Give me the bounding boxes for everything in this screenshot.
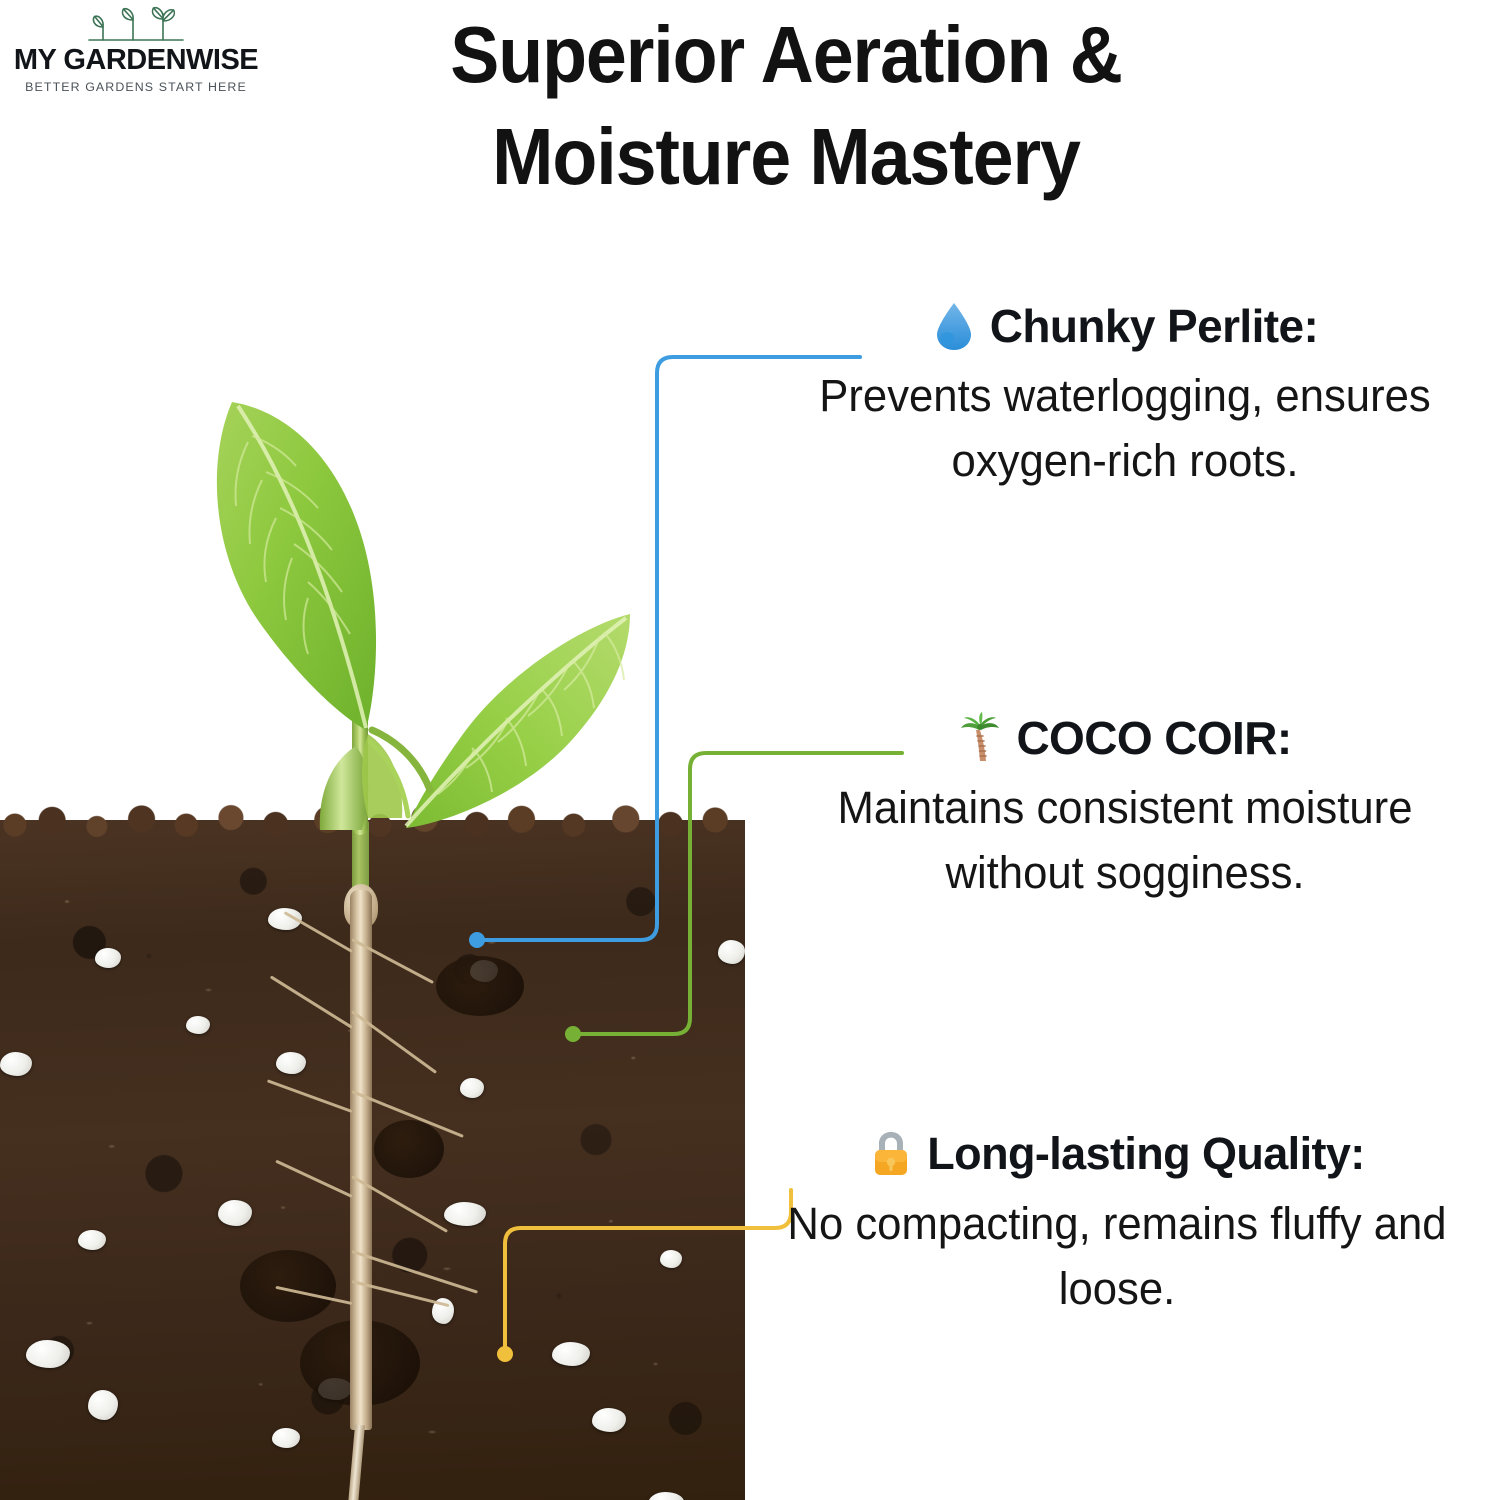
callout-perlite-title: Chunky Perlite: (990, 302, 1318, 350)
perlite-chunk (276, 1052, 306, 1074)
leaf-right (406, 614, 630, 828)
perlite-chunk (0, 1052, 32, 1076)
infographic-canvas: MY GARDENWISE BETTER GARDENS START HERE … (0, 0, 1497, 1500)
callout-coir: COCO COIR: Maintains consistent moisture… (760, 712, 1490, 906)
callout-coir-body: Maintains consistent moisture without so… (771, 776, 1479, 906)
water-droplet-icon (932, 300, 976, 352)
perlite-chunk (78, 1230, 106, 1250)
perlite-chunk (272, 1428, 300, 1448)
perlite-chunk (95, 948, 121, 968)
soil-clump (436, 956, 524, 1016)
callout-perlite: Chunky Perlite: Prevents waterlogging, e… (760, 300, 1490, 494)
leaf-large-left (217, 402, 376, 730)
palm-trunk (976, 730, 986, 761)
perlite-chunk (592, 1408, 626, 1432)
seedling (0, 190, 745, 830)
callout-quality-title: Long-lasting Quality: (927, 1130, 1364, 1177)
brand-logo: MY GARDENWISE BETTER GARDENS START HERE (10, 6, 262, 92)
callout-quality-heading: Long-lasting Quality: (744, 1128, 1490, 1180)
callout-coir-title: COCO COIR: (1016, 714, 1291, 762)
perlite-chunk (660, 1250, 682, 1268)
product-photo (0, 190, 745, 1500)
soil-clump (374, 1120, 444, 1178)
leaves-group (0, 190, 745, 830)
palm-fronds (961, 712, 999, 730)
page-title-line-1: Superior Aeration & (326, 4, 1246, 106)
callout-perlite-heading: Chunky Perlite: (760, 300, 1490, 352)
callout-quality-body: No compacting, remains fluffy and loose. (755, 1192, 1479, 1322)
perlite-chunk (218, 1200, 252, 1226)
perlite-chunk (26, 1340, 70, 1368)
perlite-chunk (88, 1390, 118, 1420)
taproot (350, 890, 372, 1430)
lock-icon (869, 1128, 913, 1180)
perlite-chunk (186, 1016, 210, 1034)
perlite-chunk (552, 1342, 590, 1366)
page-title: Superior Aeration & Moisture Mastery (326, 4, 1246, 209)
brand-name: MY GARDENWISE (10, 46, 262, 75)
three-sprouts-icon (81, 6, 191, 44)
perlite-chunk (460, 1078, 484, 1098)
perlite-chunk (718, 940, 745, 964)
callout-quality: Long-lasting Quality: No compacting, rem… (744, 1128, 1490, 1322)
palm-tree-icon (958, 712, 1002, 764)
callout-perlite-body: Prevents waterlogging, ensures oxygen-ri… (771, 364, 1479, 494)
brand-tagline: BETTER GARDENS START HERE (10, 80, 262, 94)
callout-coir-heading: COCO COIR: (760, 712, 1490, 764)
perlite-chunk (444, 1202, 486, 1226)
soil-clump (240, 1250, 336, 1322)
